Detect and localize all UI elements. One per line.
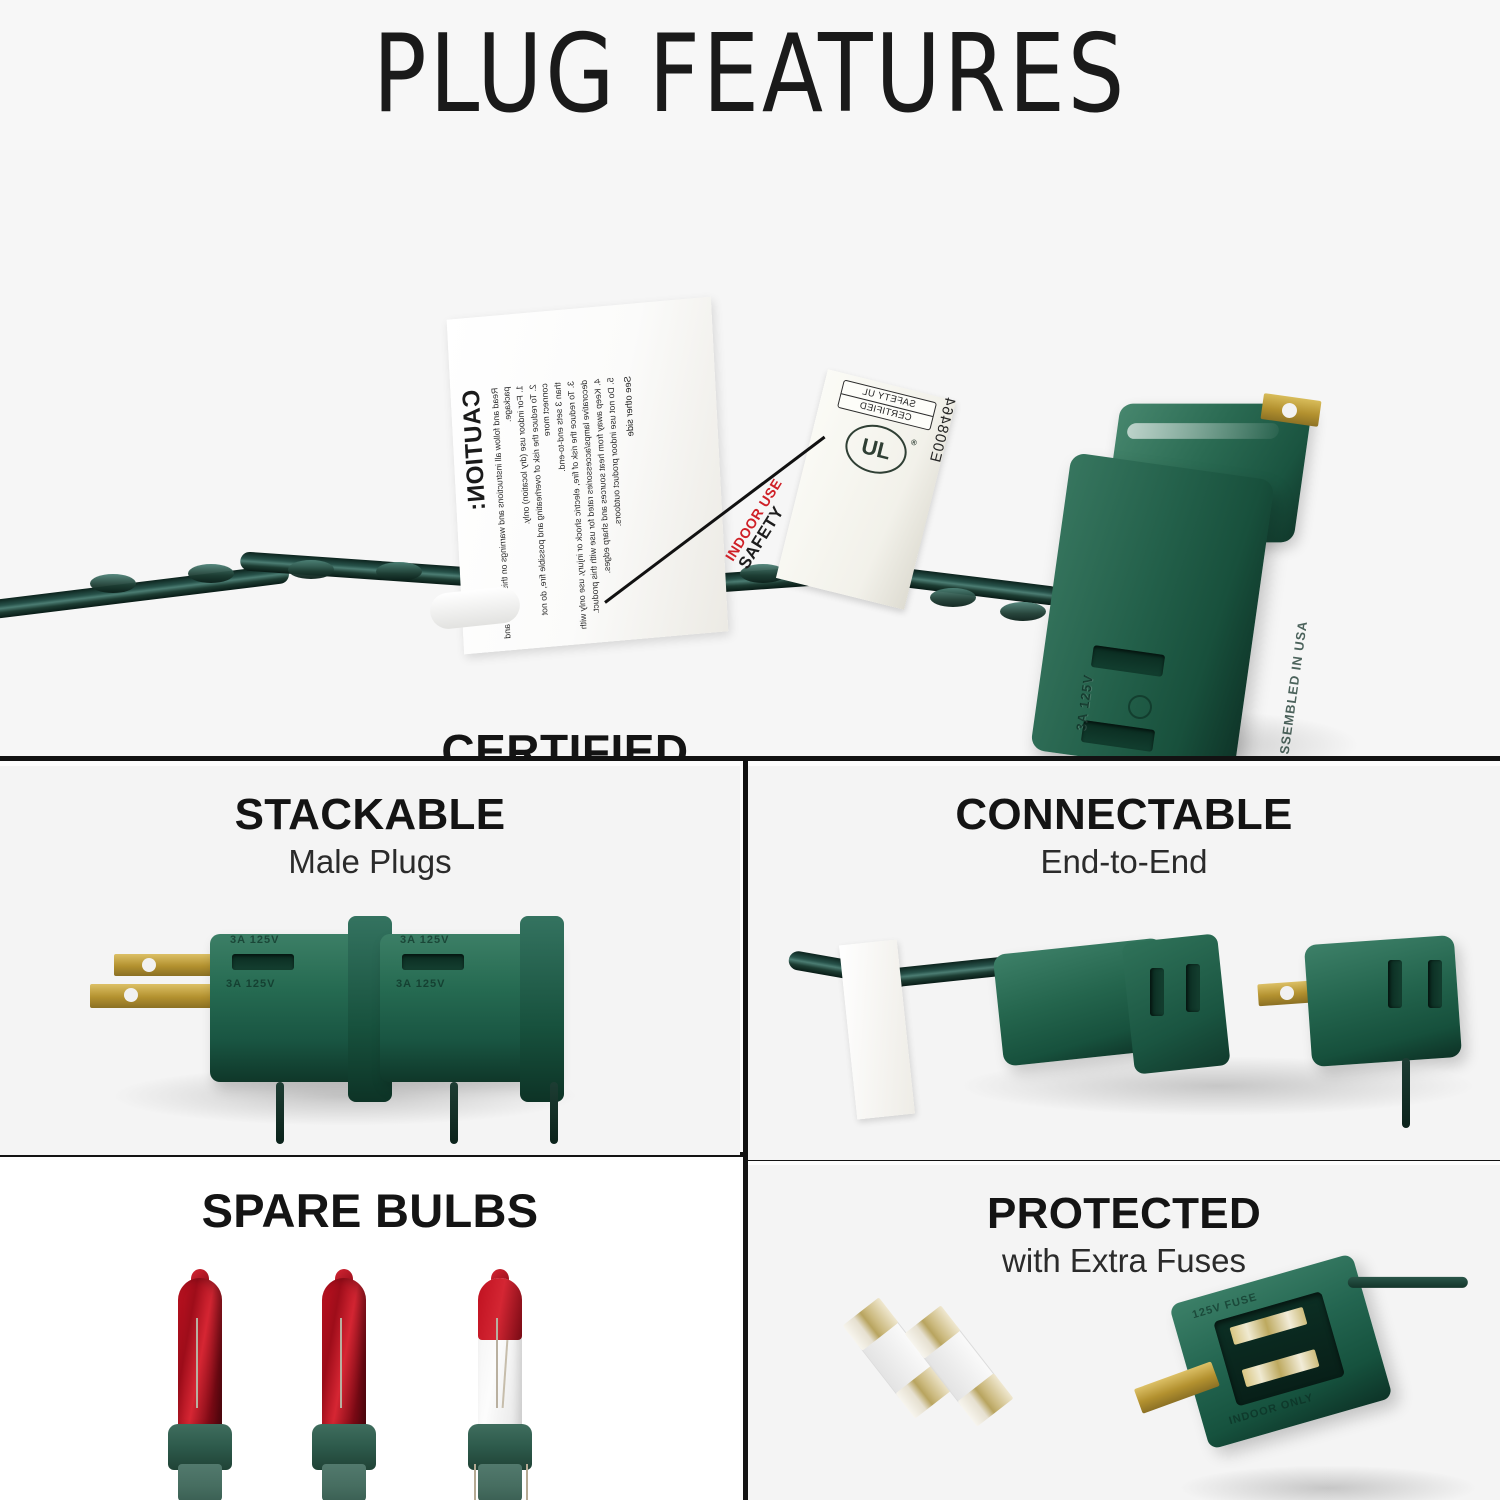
panel-connectable: CONNECTABLE End-to-End CAUTION- Read and… (748, 766, 1500, 1160)
receptacle-slot (1388, 960, 1402, 1008)
registered-icon: ® (910, 438, 918, 448)
page-title: PLUG FEATURES (373, 21, 1127, 129)
bulb-filament (496, 1318, 498, 1408)
cord-tail (450, 1082, 458, 1144)
bulb-filament (340, 1318, 342, 1408)
cord-twist (188, 564, 234, 583)
ul-logo-icon: UL ® (840, 418, 912, 480)
panel-subtitle: End-to-End (748, 843, 1500, 881)
panel-header: SPARE BULBS (0, 1160, 740, 1235)
plug-emboss-rating: 3A 125V (400, 934, 449, 946)
caution-tag-text: CAUTION- Read and follow all instruction… (839, 1107, 852, 1120)
cord-tail (550, 1082, 558, 1144)
cord-tail (1402, 1058, 1410, 1128)
connectable-plugs-art: CAUTION- Read and follow all instruction… (788, 916, 1488, 1156)
caution-heading: CAUTION: (457, 389, 495, 582)
spare-bulbs-art (0, 1278, 740, 1500)
bulb-lead-wire (526, 1464, 528, 1500)
callout-title: CERTIFIED (400, 727, 730, 761)
plug-face (520, 916, 564, 1102)
bulb-skirt (322, 1464, 366, 1500)
plug-emboss-origin: ASSEMBLED IN USA (1275, 620, 1310, 761)
title-bar: PLUG FEATURES (0, 0, 1500, 150)
cord-twist (376, 562, 422, 581)
receptacle-slot (1186, 964, 1200, 1012)
ul-label-box: SAFETY UL CERTIFIED (837, 379, 937, 430)
panel-stackable: STACKABLE Male Plugs 3A 125V 3A 125V 3A … (0, 766, 740, 1155)
panel-subtitle: Male Plugs (0, 843, 740, 881)
spare-fuses-art (838, 1315, 1098, 1495)
hero-panel: CAUTION: Read and follow all instruction… (0, 150, 1500, 761)
bulb-filament (196, 1318, 198, 1408)
bulb-glass (178, 1278, 222, 1430)
panel-header: STACKABLE Male Plugs (0, 766, 740, 881)
infographic-page: PLUG FEATURES CAUTION: Read and follow a… (0, 0, 1500, 1500)
cord-segment (1348, 1277, 1468, 1288)
plug-prong (114, 954, 222, 976)
bulb-red-cap (478, 1278, 522, 1340)
ul-file-number: E008464 (926, 266, 991, 464)
bulb (152, 1278, 248, 1500)
bulb-glass (322, 1278, 366, 1430)
panel-title: SPARE BULBS (0, 1186, 740, 1235)
bulb-lead-wire (474, 1464, 476, 1500)
connector-face (1121, 933, 1230, 1074)
receptacle-slot (402, 954, 464, 970)
plug-highlight (1126, 423, 1280, 439)
stacked-plugs-art: 3A 125V 3A 125V 3A 125V 3A 125V (80, 906, 640, 1155)
cord-twist (90, 574, 136, 593)
receptacle-slot (1428, 960, 1442, 1008)
plug-emboss-rating: 3A 125V (226, 978, 275, 990)
cord-tail (276, 1082, 284, 1144)
bulb (452, 1278, 548, 1500)
prong-hole (1280, 986, 1294, 1000)
bulb-skirt (178, 1464, 222, 1500)
plug-emboss-rating: 3A 125V (396, 978, 445, 990)
cord-segment (0, 564, 290, 619)
panel-spare-bulbs: SPARE BULBS (0, 1160, 740, 1500)
panel-header: CONNECTABLE End-to-End (748, 766, 1500, 881)
bulb-skirt (478, 1464, 522, 1500)
cord-twist (288, 560, 334, 579)
ul-mark-text: UL (859, 433, 894, 465)
receptacle-slot (1150, 968, 1164, 1016)
panel-title: STACKABLE (0, 792, 740, 838)
bulb (296, 1278, 392, 1500)
plug-emboss-rating: 3A 125V (230, 934, 279, 946)
receptacle-slot (232, 954, 294, 970)
panel-protected: PROTECTED with Extra Fuses 125V FUSE (748, 1165, 1500, 1500)
plug-body (1030, 452, 1275, 761)
plug-prong (90, 984, 220, 1008)
hero-plug: 3A 125V ASSEMBLED IN USA (1020, 395, 1360, 761)
certified-callout: CERTIFIED for safety (400, 727, 730, 761)
panel-title: CONNECTABLE (748, 792, 1500, 838)
cord-twist (930, 588, 976, 607)
prong-hole (142, 958, 156, 972)
panel-title: PROTECTED (748, 1191, 1500, 1237)
prong-hole (124, 988, 138, 1002)
